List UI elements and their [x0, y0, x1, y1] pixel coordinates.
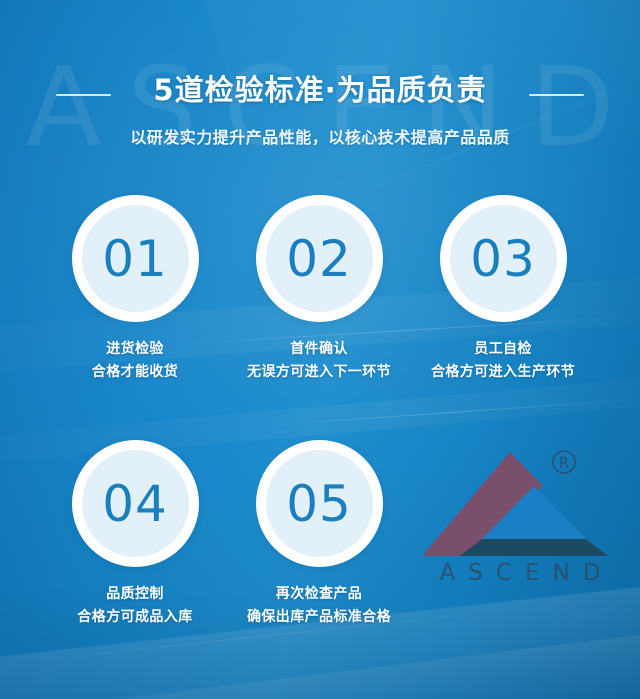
step-circle-inner: 01 — [82, 205, 189, 312]
step-circle-inner: 02 — [266, 205, 373, 312]
registered-icon: R — [553, 451, 575, 473]
step-caption-line1: 品质控制 — [43, 583, 227, 606]
step-caption: 首件确认 无误方可进入下一环节 — [227, 338, 411, 383]
step-caption-line2: 合格方可进入生产环节 — [411, 361, 595, 384]
step-caption: 再次检查产品 确保出库产品标准合格 — [227, 583, 411, 628]
step-number: 05 — [286, 479, 352, 529]
promo-banner: ASCEND 5道检验标准·为品质负责 以研发实力提升产品性能，以核心技术提高产… — [0, 0, 640, 699]
page-title: 5道检验标准·为品质负责 — [0, 73, 640, 108]
step-number: 01 — [102, 234, 168, 284]
step-circle: 04 — [72, 440, 199, 567]
ascend-logo-mark: R — [414, 444, 626, 569]
step-item-02: 02 首件确认 无误方可进入下一环节 — [227, 195, 411, 383]
step-circle: 01 — [72, 195, 199, 322]
step-caption-line2: 无误方可进入下一环节 — [227, 361, 411, 384]
logo-base-shape — [460, 539, 608, 556]
step-circle: 02 — [256, 195, 383, 322]
step-number: 02 — [286, 234, 352, 284]
page-subtitle: 以研发实力提升产品性能，以核心技术提高产品品质 — [0, 124, 640, 148]
step-caption-line1: 进货检验 — [43, 338, 227, 361]
step-number: 04 — [102, 479, 168, 529]
ascend-logo: R ASCEND — [414, 444, 626, 600]
step-number: 03 — [470, 234, 536, 284]
step-item-03: 03 员工自检 合格方可进入生产环节 — [411, 195, 595, 383]
step-circle: 05 — [256, 440, 383, 567]
step-circle: 03 — [440, 195, 567, 322]
step-circle-inner: 05 — [266, 450, 373, 557]
step-caption: 员工自检 合格方可进入生产环节 — [411, 338, 595, 383]
step-circle-inner: 03 — [450, 205, 557, 312]
step-item-01: 01 进货检验 合格才能收货 — [43, 195, 227, 383]
logo-wordmark: ASCEND — [416, 560, 624, 586]
step-caption-line1: 再次检查产品 — [227, 583, 411, 606]
step-item-04: 04 品质控制 合格方可成品入库 — [43, 440, 227, 628]
step-item-05: 05 再次检查产品 确保出库产品标准合格 — [227, 440, 411, 628]
step-caption-line2: 合格方可成品入库 — [43, 606, 227, 629]
step-caption-line1: 首件确认 — [227, 338, 411, 361]
svg-text:R: R — [559, 454, 569, 472]
step-caption-line2: 确保出库产品标准合格 — [227, 606, 411, 629]
step-caption-line2: 合格才能收货 — [43, 361, 227, 384]
step-caption: 进货检验 合格才能收货 — [43, 338, 227, 383]
step-circle-inner: 04 — [82, 450, 189, 557]
step-caption: 品质控制 合格方可成品入库 — [43, 583, 227, 628]
step-caption-line1: 员工自检 — [411, 338, 595, 361]
